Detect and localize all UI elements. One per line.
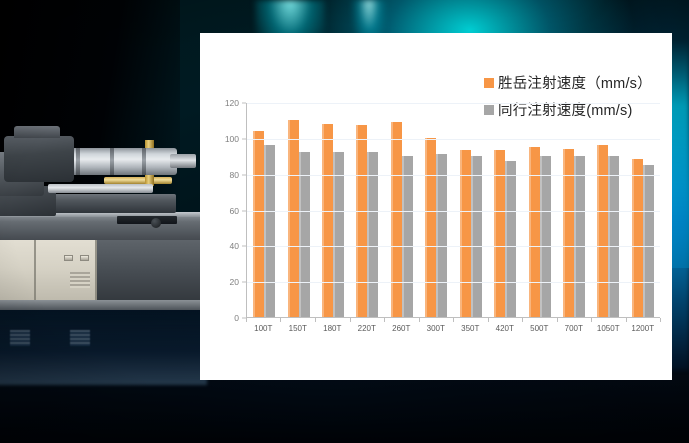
gridline [247,103,660,104]
bar[interactable] [264,145,275,317]
plot-area-wrapper: 020406080100120 100T150T180T220T260T300T… [216,103,660,353]
bar[interactable] [597,145,608,317]
x-axis-tick [315,318,316,322]
bar[interactable] [299,152,310,317]
x-axis-tick [522,318,523,322]
x-axis-tick-label: 220T [350,324,385,340]
y-axis-tick-label: 0 [234,313,239,323]
slide-canvas: 胜岳注射速度（mm/s） 同行注射速度(mm/s) 02040608010012… [0,0,689,443]
gridline [247,139,660,140]
legend-label-series-1: 胜岳注射速度（mm/s） [498,72,652,93]
bar[interactable] [367,152,378,317]
bar[interactable] [643,165,654,317]
x-axis-tick-label: 1200T [626,324,661,340]
y-axis-tick-label: 80 [230,170,239,180]
x-axis-ticks [246,318,660,323]
x-axis-tick-label: 700T [557,324,592,340]
x-axis-tick-label: 500T [522,324,557,340]
x-axis-labels: 100T150T180T220T260T300T350T420T500T700T… [246,324,660,340]
x-axis-tick-label: 350T [453,324,488,340]
x-axis-tick [419,318,420,322]
x-axis-tick-label: 150T [281,324,316,340]
legend-item-series-1[interactable]: 胜岳注射速度（mm/s） [484,72,652,93]
x-axis-tick-label: 300T [419,324,454,340]
bar[interactable] [288,120,299,317]
x-axis-tick [453,318,454,322]
x-axis-tick-label: 180T [315,324,350,340]
bar[interactable] [471,156,482,317]
bar[interactable] [574,156,585,317]
x-axis-tick [384,318,385,322]
x-axis-tick [246,318,247,322]
bar[interactable] [356,125,367,317]
bar[interactable] [540,156,551,317]
x-axis-tick-label: 260T [384,324,419,340]
bar[interactable] [436,154,447,317]
gridline [247,211,660,212]
plot-area [246,103,660,318]
y-axis-tick-label: 100 [225,134,239,144]
x-axis-tick [660,318,661,322]
x-axis-tick [280,318,281,322]
bar[interactable] [322,124,333,318]
gridline [247,175,660,176]
x-axis-tick-label: 1050T [591,324,626,340]
bar[interactable] [333,152,344,317]
bar[interactable] [391,122,402,317]
x-axis-tick-label: 420T [488,324,523,340]
x-axis-tick [591,318,592,322]
y-axis-tick-label: 120 [225,98,239,108]
chart-panel: 胜岳注射速度（mm/s） 同行注射速度(mm/s) 02040608010012… [200,33,672,380]
y-axis-tick-label: 20 [230,277,239,287]
bar[interactable] [253,131,264,317]
bar[interactable] [505,161,516,317]
y-axis-tick-label: 40 [230,241,239,251]
bar[interactable] [529,147,540,317]
bar[interactable] [608,156,619,317]
bar[interactable] [425,138,436,317]
gridline [247,282,660,283]
x-axis-tick-label: 100T [246,324,281,340]
x-axis-tick [557,318,558,322]
bar[interactable] [402,156,413,317]
x-axis-tick [488,318,489,322]
legend-swatch-series-1 [484,78,494,88]
x-axis-tick [626,318,627,322]
bar[interactable] [632,159,643,317]
x-axis-tick [350,318,351,322]
gridline [247,246,660,247]
y-axis-labels: 020406080100120 [216,103,242,318]
y-axis-tick-label: 60 [230,206,239,216]
